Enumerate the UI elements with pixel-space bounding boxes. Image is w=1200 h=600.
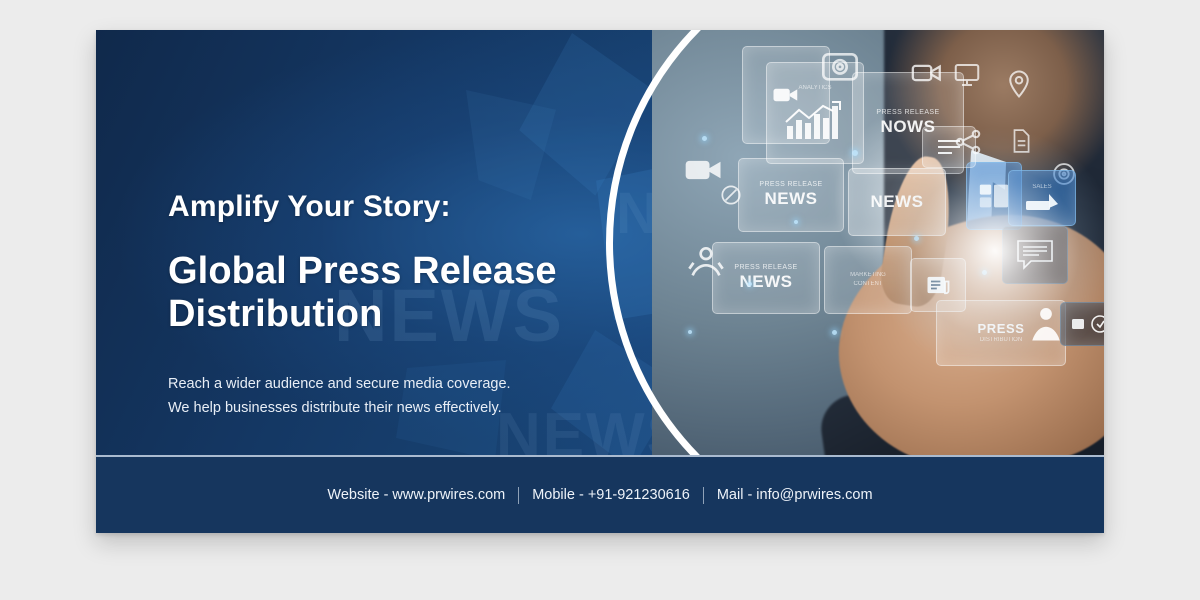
newspaper-icon (922, 271, 954, 299)
contact-footer-inner: Website - www.prwires.com Mobile - +91-9… (327, 487, 872, 504)
footer-separator-2 (703, 487, 704, 504)
list-card[interactable] (922, 126, 976, 168)
chat-bubble-icon (1015, 238, 1055, 272)
analytics-card[interactable]: ANALYTICS (766, 62, 864, 164)
sparkle-dot (982, 270, 987, 275)
document-icon (1008, 126, 1034, 156)
footer-separator-1 (518, 487, 519, 504)
hero-photo: ANALYTICS PRESS RELEASE NOWS PRESS RELEA (652, 30, 1104, 455)
sales-card[interactable]: SALES (1008, 170, 1076, 226)
news-card-1-kicker: PRESS RELEASE (759, 181, 822, 188)
banner-body: NEWS NEWS NEWS Amplify Your Story: Globa… (96, 30, 1104, 455)
media-controls-icon (1068, 312, 1104, 336)
press-distribution-kicker: PRESS (977, 321, 1024, 336)
analytics-card-kicker: ANALYTICS (799, 84, 832, 93)
subtitle-line-1: Reach a wider audience and secure media … (168, 373, 598, 396)
sparkle-dot (748, 282, 752, 286)
news-card-2-kicker: PRESS RELEASE (734, 264, 797, 271)
megaphone-icon (1022, 191, 1062, 213)
press-release-news-card-1[interactable]: PRESS RELEASE NEWS (738, 158, 844, 232)
sales-card-kicker: SALES (1032, 183, 1051, 192)
user-broadcast-icon (1024, 302, 1068, 346)
page-title: Global Press Release Distribution (168, 250, 568, 336)
news-card-title: NEWS (871, 192, 924, 212)
eyebrow-text: Amplify Your Story: (168, 190, 598, 224)
marketing-card-kicker: MARKETING (850, 271, 886, 280)
nows-card-kicker: PRESS RELEASE (876, 109, 939, 116)
promo-banner: NEWS NEWS NEWS Amplify Your Story: Globa… (96, 30, 1104, 533)
mail-text[interactable]: Mail - info@prwires.com (717, 487, 873, 503)
news-card[interactable]: NEWS (848, 168, 946, 236)
subtitle-text: Reach a wider audience and secure media … (168, 373, 598, 420)
press-distribution-title: DISTRIBUTION (980, 336, 1022, 345)
image-grid-icon (977, 179, 1011, 213)
contact-footer: Website - www.prwires.com Mobile - +91-9… (96, 457, 1104, 533)
list-icon (934, 136, 964, 158)
location-pin-icon (1004, 66, 1034, 102)
press-release-news-card-2[interactable]: PRESS RELEASE NEWS (712, 242, 820, 314)
mobile-text[interactable]: Mobile - +91-921230616 (532, 487, 690, 503)
bar-chart-growth-icon (783, 96, 847, 142)
marketing-content-card[interactable]: MARKETING CONTENT (824, 246, 912, 314)
sparkle-dot (832, 330, 837, 335)
sparkle-dot (794, 220, 798, 224)
website-text[interactable]: Website - www.prwires.com (327, 487, 505, 503)
headline-block: Amplify Your Story: Global Press Release… (168, 190, 598, 420)
left-copy-panel: NEWS NEWS NEWS Amplify Your Story: Globa… (96, 30, 716, 455)
sparkle-dot (702, 136, 707, 141)
marketing-card-title: CONTENT (854, 280, 883, 289)
sparkle-dot (914, 236, 919, 241)
sparkle-dot (688, 330, 692, 334)
sparkle-dot (852, 150, 858, 156)
news-card-1-title: NEWS (765, 189, 818, 209)
subtitle-line-2: We help businesses distribute their news… (168, 397, 598, 420)
chat-card[interactable] (1002, 226, 1068, 284)
